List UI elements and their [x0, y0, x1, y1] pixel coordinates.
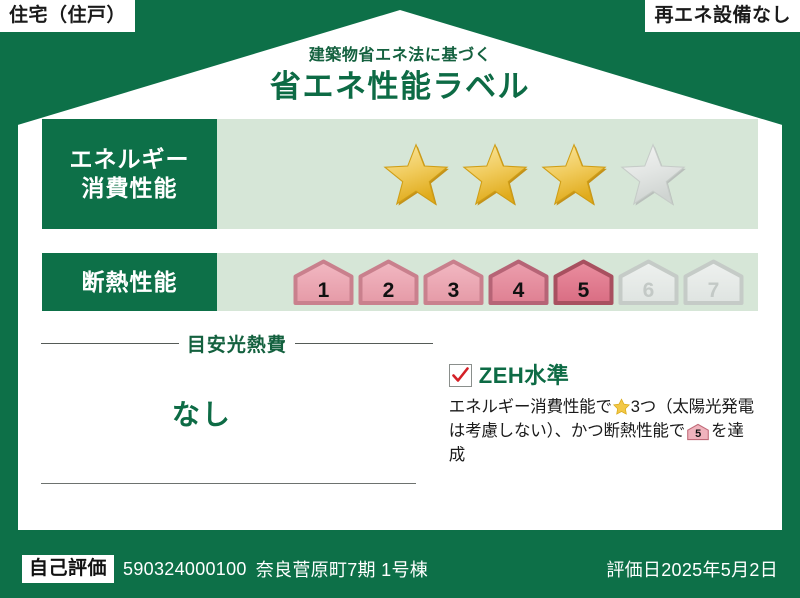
- insulation-level-6: 6: [618, 259, 679, 305]
- energy-performance-label: 住宅（住戸） 再エネ設備なし 建築物省エネ法に基づく 省エネ性能ラベル エネルギ…: [0, 0, 800, 598]
- evaluation-type-badge: 自己評価: [22, 555, 114, 583]
- star-rating: [382, 142, 687, 207]
- insulation-level-scale: 1234567: [293, 259, 744, 305]
- star-filled-icon: [461, 142, 529, 207]
- star-icon: [613, 398, 630, 415]
- title-subtitle: 建築物省エネ法に基づく: [0, 46, 800, 65]
- zeh-title: ZEH水準: [479, 365, 570, 387]
- insulation-level-value: 5: [553, 280, 614, 301]
- footer-id: 590324000100: [123, 559, 247, 580]
- zeh-description: エネルギー消費性能で3つ（太陽光発電 は考慮しない）、かつ断熱性能で5を達成: [449, 396, 759, 468]
- insulation-level-inline-value: 5: [687, 429, 709, 440]
- row-energy-body: [217, 119, 758, 229]
- star-empty-icon: [619, 142, 687, 207]
- star-filled-icon: [540, 142, 608, 207]
- row-energy-label-line2: 消費性能: [82, 174, 178, 203]
- insulation-level-value: 2: [358, 280, 419, 301]
- zeh-desc-star-count: 3つ（太陽光発電: [631, 398, 754, 416]
- zeh-desc-part1: エネルギー消費性能で: [449, 398, 612, 416]
- insulation-level-value: 7: [683, 280, 744, 301]
- footer-left-group: 自己評価 590324000100 奈良菅原町7期 1号棟: [22, 555, 606, 583]
- insulation-level-4: 4: [488, 259, 549, 305]
- insulation-level-value: 6: [618, 280, 679, 301]
- badge-renewable-equipment: 再エネ設備なし: [645, 0, 800, 32]
- insulation-level-value: 1: [293, 280, 354, 301]
- zeh-title-row: ZEH水準: [449, 364, 759, 387]
- zeh-column: ZEH水準 エネルギー消費性能で3つ（太陽光発電 は考慮しない）、かつ断熱性能で…: [433, 322, 759, 494]
- insulation-level-inline-icon: 5: [687, 423, 709, 441]
- heading-rule-right: [295, 343, 433, 344]
- insulation-level-7: 7: [683, 259, 744, 305]
- insulation-level-5: 5: [553, 259, 614, 305]
- utility-cost-bottom-rule: [41, 483, 416, 484]
- row-insulation-label: 断熱性能: [42, 253, 217, 311]
- footer-property-name: 奈良菅原町7期 1号棟: [256, 556, 428, 582]
- lower-section: 目安光熱費 なし ZEH水準 エネルギー消費性能で3つ（太陽光発電 は考慮しない…: [41, 322, 759, 494]
- label-title-block: 建築物省エネ法に基づく 省エネ性能ラベル: [0, 46, 800, 107]
- badge-building-type: 住宅（住戸）: [0, 0, 135, 32]
- insulation-level-2: 2: [358, 259, 419, 305]
- utility-cost-value: なし: [41, 393, 433, 433]
- insulation-level-3: 3: [423, 259, 484, 305]
- check-icon: [451, 366, 470, 385]
- utility-cost-heading: 目安光熱費: [187, 330, 287, 357]
- star-filled-icon: [382, 142, 450, 207]
- insulation-level-value: 4: [488, 280, 549, 301]
- row-energy-label: エネルギー 消費性能: [42, 119, 217, 229]
- row-energy-performance: エネルギー 消費性能: [41, 118, 759, 230]
- row-energy-label-line1: エネルギー: [70, 145, 190, 174]
- utility-cost-heading-row: 目安光熱費: [41, 322, 433, 357]
- zeh-checkbox[interactable]: [449, 364, 472, 387]
- row-insulation-performance: 断熱性能 1234567: [41, 252, 759, 312]
- utility-cost-column: 目安光熱費 なし: [41, 322, 433, 494]
- zeh-desc-part2: は考慮しない）、かつ断熱性能で: [449, 422, 685, 440]
- title-main: 省エネ性能ラベル: [0, 68, 800, 107]
- footer-evaluation-date: 評価日2025年5月2日: [606, 556, 778, 582]
- row-insulation-label-text: 断熱性能: [82, 268, 178, 297]
- insulation-level-1: 1: [293, 259, 354, 305]
- insulation-level-value: 3: [423, 280, 484, 301]
- heading-rule-left: [41, 343, 179, 344]
- row-insulation-body: 1234567: [217, 253, 758, 311]
- label-footer: 自己評価 590324000100 奈良菅原町7期 1号棟 評価日2025年5月…: [0, 540, 800, 598]
